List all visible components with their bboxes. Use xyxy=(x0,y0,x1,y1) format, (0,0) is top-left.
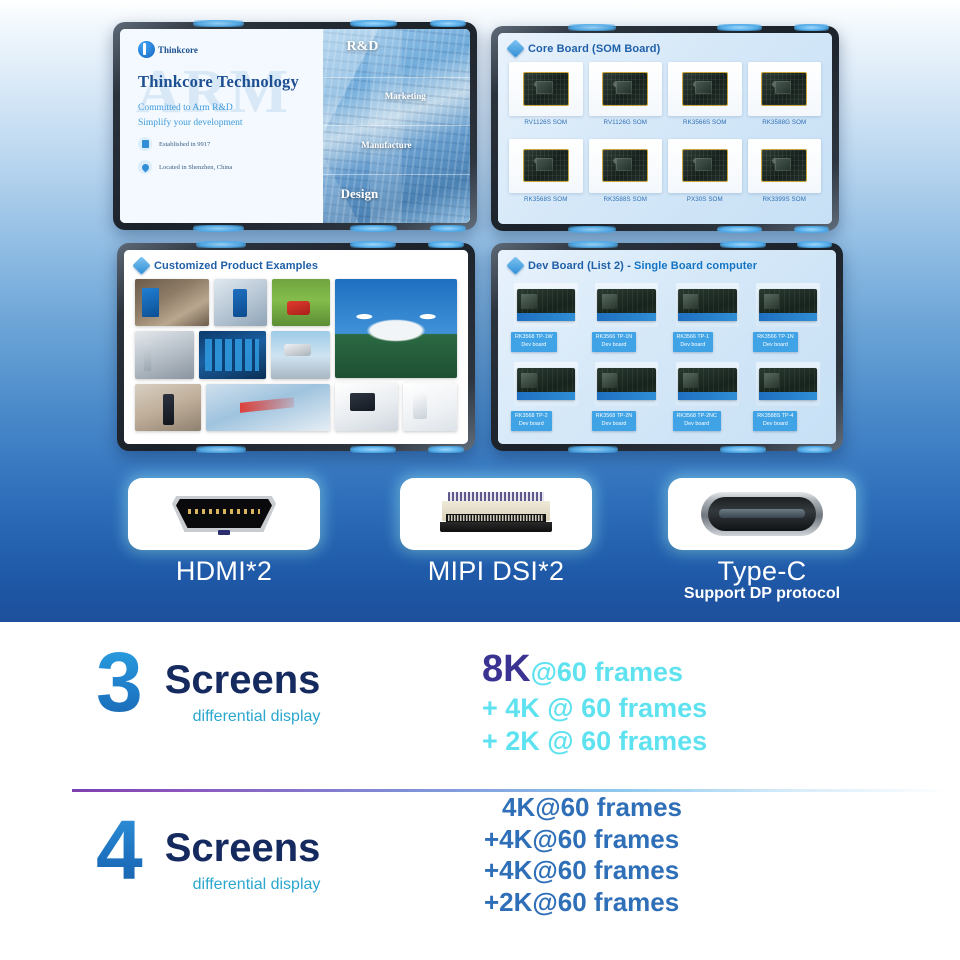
dev-board-label: RK3568 TP-2N Dev board xyxy=(592,411,636,431)
dev-board-model: RK3568 TP-2N xyxy=(596,413,632,421)
som-thumbnail xyxy=(668,139,742,193)
connector-hdmi[interactable]: HDMI*2 xyxy=(94,478,354,587)
thinkcore-logo-text: Thinkcore xyxy=(158,45,198,55)
slide-info-established: Established in 9917 xyxy=(138,137,323,151)
dev-board-kind: Dev board xyxy=(757,342,793,350)
spec-4-left: 4 Screens differential display xyxy=(0,814,470,894)
hdmi-port-icon xyxy=(172,496,276,532)
bezel-clip-icon xyxy=(794,24,829,31)
dev-board-item[interactable]: RK3568 TP-2N Dev board xyxy=(590,358,664,431)
product-photo-pos[interactable] xyxy=(335,383,398,431)
type-c-card xyxy=(668,478,856,550)
dev-board-kind: Dev board xyxy=(677,421,717,429)
spec-3-line-1: 8K@60 frames xyxy=(482,646,960,692)
spec-4-line-2: +4K@60 frames xyxy=(484,824,960,856)
dev-board-label: RK3568 TP-2 Dev board xyxy=(511,411,552,431)
dev-board-model: RK3566 TP-1N xyxy=(596,334,632,342)
som-thumbnail xyxy=(509,62,583,116)
core-board-header: Core Board (SOM Board) xyxy=(509,42,821,55)
product-photo-meeting[interactable] xyxy=(135,384,201,431)
som-item[interactable]: RV1126S SOM xyxy=(509,62,583,135)
monitor-company-slide[interactable]: ARM Thinkcore Thinkcore Technology Commi… xyxy=(113,22,477,230)
product-photo-tablet[interactable] xyxy=(214,279,266,326)
som-label: RV1126G SOM xyxy=(603,119,647,126)
spec-3-line-3: + 2K @ 60 frames xyxy=(482,725,960,758)
dev-board-item[interactable]: RK3566 TP-1N Dev board xyxy=(751,279,825,352)
type-c-sublabel: Support DP protocol xyxy=(632,585,892,603)
product-photo-drone[interactable] xyxy=(335,279,457,378)
hdmi-label: HDMI*2 xyxy=(94,556,354,587)
som-thumbnail xyxy=(509,139,583,193)
som-label: RK3399S SOM xyxy=(763,196,806,203)
spec-4-number: 4 xyxy=(96,814,143,888)
dev-board-item[interactable]: RK3568 TP-1W Dev board xyxy=(509,279,583,352)
product-photo-gate[interactable] xyxy=(135,331,194,378)
bezel-clip-icon xyxy=(350,225,397,232)
diamond-bullet-icon xyxy=(506,256,524,274)
dev-board-kind: Dev board xyxy=(757,421,793,429)
slide-grid-label-design: Design xyxy=(341,186,379,202)
som-item[interactable]: RK3588G SOM xyxy=(748,62,822,135)
dev-board-label: RK3566 TP-1 Dev board xyxy=(673,332,714,352)
som-item[interactable]: RV1126G SOM xyxy=(589,62,663,135)
spec-3-note: differential display xyxy=(165,708,321,726)
screen-dev-board: Dev Board (List 2) - Single Board comput… xyxy=(498,250,836,444)
som-board-grid: RV1126S SOM RV1126G SOM RK3566S SOM xyxy=(509,62,821,211)
spec-row-4-screens: 4 Screens differential display 4K@60 fra… xyxy=(0,814,960,919)
monitor-grid: ARM Thinkcore Thinkcore Technology Commi… xyxy=(0,0,960,470)
som-thumbnail xyxy=(748,139,822,193)
dev-board-model: RK3566 TP-1 xyxy=(677,334,710,342)
dev-board-thumbnail xyxy=(676,283,739,327)
dev-board-model: RK3588S TP-4 xyxy=(757,413,793,421)
dev-board-kind: Dev board xyxy=(515,421,548,429)
monitor-customized-products[interactable]: Customized Product Examples xyxy=(117,243,475,451)
dev-board-item[interactable]: RK3566 TP-1N Dev board xyxy=(590,279,664,352)
bezel-clip-icon xyxy=(350,446,397,453)
connector-row: HDMI*2 MIPI DSI*2 Type-C Support DP prot… xyxy=(0,470,960,622)
dev-board-header: Dev Board (List 2) - Single Board comput… xyxy=(509,259,825,272)
established-text: Established in 9917 xyxy=(159,141,210,148)
spec-4-line-3: +4K@60 frames xyxy=(484,855,960,887)
slide-subtitle-1: Committed to Arm R&D xyxy=(138,103,323,113)
bezel-clip-icon xyxy=(350,241,397,248)
bezel-clip-icon xyxy=(797,446,832,453)
slide-grid-label-marketing: Marketing xyxy=(385,91,426,101)
screen-company-slide: ARM Thinkcore Thinkcore Technology Commi… xyxy=(120,29,470,223)
type-c-label: Type-C xyxy=(632,556,892,587)
dev-board-label: RK3568 TP-1W Dev board xyxy=(511,332,557,352)
som-label: PX30S SOM xyxy=(687,196,723,203)
mipi-dsi-port-icon xyxy=(440,492,552,536)
core-board-title: Core Board (SOM Board) xyxy=(528,43,660,55)
spec-3-line-2: + 4K @ 60 frames xyxy=(482,692,960,725)
spec-3-number: 3 xyxy=(96,646,143,720)
som-thumbnail xyxy=(748,62,822,116)
bezel-clip-icon xyxy=(430,225,466,232)
dev-board-model: RK3566 TP-1N xyxy=(757,334,793,342)
som-item[interactable]: RK3399S SOM xyxy=(748,139,822,212)
customized-products-title: Customized Product Examples xyxy=(154,260,318,272)
slide-subtitle-2: Simplify your development xyxy=(138,118,323,128)
mipi-card xyxy=(400,478,592,550)
building-icon xyxy=(138,137,152,151)
spec-4-right: 4K@60 frames +4K@60 frames +4K@60 frames… xyxy=(470,792,960,919)
screen-core-board: Core Board (SOM Board) RV1126S SOM RV112… xyxy=(498,33,832,224)
screen-customized-products: Customized Product Examples xyxy=(124,250,468,444)
som-thumbnail xyxy=(589,139,663,193)
bezel-clip-icon xyxy=(428,446,464,453)
som-thumbnail xyxy=(668,62,742,116)
spec-4-line-1: 4K@60 frames xyxy=(484,792,960,824)
diamond-bullet-icon xyxy=(132,256,150,274)
dev-board-grid: RK3568 TP-1W Dev board RK3566 TP-1N Dev … xyxy=(509,279,825,431)
dev-board-kind: Dev board xyxy=(596,421,632,429)
monitor-core-board[interactable]: Core Board (SOM Board) RV1126S SOM RV112… xyxy=(491,26,839,231)
dev-board-kind: Dev board xyxy=(515,342,553,350)
location-pin-icon xyxy=(138,160,152,174)
som-label: RK3568S SOM xyxy=(524,196,567,203)
dev-board-title: Dev Board (List 2) - Single Board comput… xyxy=(528,260,757,272)
bezel-clip-icon xyxy=(430,20,466,27)
spec-4-note: differential display xyxy=(165,876,321,894)
bezel-clip-icon xyxy=(428,241,464,248)
bezel-clip-icon xyxy=(720,446,766,453)
spec-3-line-1-rest: @60 frames xyxy=(531,657,683,687)
slide-grid-label-manufacture: Manufacture xyxy=(361,140,411,150)
product-photo-kiosk[interactable] xyxy=(135,279,209,326)
dev-board-title-dash: - xyxy=(624,260,634,272)
som-label: RK3566S SOM xyxy=(683,119,726,126)
product-gallery xyxy=(135,279,457,431)
bezel-clip-icon xyxy=(794,226,829,233)
dev-board-label: RK3588S TP-4 Dev board xyxy=(753,411,797,431)
product-photo-face[interactable] xyxy=(206,384,330,431)
som-item[interactable]: RK3568S SOM xyxy=(509,139,583,212)
spec-3-right: 8K@60 frames + 4K @ 60 frames + 2K @ 60 … xyxy=(470,646,960,758)
dev-board-thumbnail xyxy=(514,283,577,327)
dev-board-thumbnail xyxy=(676,362,739,406)
location-text: Located in Shenzhen, China xyxy=(159,164,232,171)
dev-board-model: RK3568 TP-2NC xyxy=(677,413,717,421)
dev-board-label: RK3566 TP-1N Dev board xyxy=(753,332,797,352)
hdmi-card xyxy=(128,478,320,550)
usb-type-c-port-icon xyxy=(701,492,823,536)
spec-3-word: Screens xyxy=(165,660,321,700)
slide-info-location: Located in Shenzhen, China xyxy=(138,160,323,174)
hero-section: ARM Thinkcore Thinkcore Technology Commi… xyxy=(0,0,960,622)
dev-board-label: RK3568 TP-2NC Dev board xyxy=(673,411,721,431)
specs-section: 3 Screens differential display 8K@60 fra… xyxy=(0,622,960,960)
som-label: RK3588G SOM xyxy=(762,119,806,126)
connector-mipi-dsi[interactable]: MIPI DSI*2 xyxy=(366,478,626,587)
slide-grid-label-rd: R&D xyxy=(347,39,379,55)
som-item[interactable]: RK3588S SOM xyxy=(589,139,663,212)
diamond-bullet-icon xyxy=(506,39,524,57)
product-photo-screens[interactable] xyxy=(199,331,266,378)
mipi-dsi-label: MIPI DSI*2 xyxy=(366,556,626,587)
customized-products-header: Customized Product Examples xyxy=(135,259,457,272)
dev-board-thumbnail xyxy=(514,362,577,406)
dev-board-title-accent: Single Board computer xyxy=(634,260,757,272)
dev-board-title-main: Dev Board (List 2) xyxy=(528,260,624,272)
dev-board-kind: Dev board xyxy=(596,342,632,350)
spec-4-word: Screens xyxy=(165,828,321,868)
slide-building-image: R&D Marketing Manufacture Design xyxy=(323,29,470,223)
connector-type-c[interactable]: Type-C Support DP protocol xyxy=(632,478,892,603)
dev-board-thumbnail xyxy=(595,362,658,406)
dev-board-item[interactable]: RK3568 TP-2NC Dev board xyxy=(671,358,745,431)
bezel-clip-icon xyxy=(720,241,766,248)
product-photo-robot[interactable] xyxy=(403,383,457,431)
som-label: RK3588S SOM xyxy=(604,196,647,203)
bezel-clip-icon xyxy=(717,226,762,233)
bezel-clip-icon xyxy=(350,20,397,27)
som-item[interactable]: RK3566S SOM xyxy=(668,62,742,135)
product-photo-camera[interactable] xyxy=(271,331,330,378)
dev-board-item[interactable]: RK3566 TP-1 Dev board xyxy=(671,279,745,352)
thinkcore-logo: Thinkcore xyxy=(138,41,323,58)
thinkcore-logo-icon xyxy=(138,41,155,58)
bezel-clip-icon xyxy=(797,241,832,248)
dev-board-label: RK3566 TP-1N Dev board xyxy=(592,332,636,352)
dev-board-item[interactable]: RK3588S TP-4 Dev board xyxy=(751,358,825,431)
slide-title: Thinkcore Technology xyxy=(138,72,323,92)
bezel-clip-icon xyxy=(717,24,762,31)
product-photo-mower[interactable] xyxy=(272,279,330,326)
som-item[interactable]: PX30S SOM xyxy=(668,139,742,212)
dev-board-thumbnail xyxy=(756,362,819,406)
spec-row-3-screens: 3 Screens differential display 8K@60 fra… xyxy=(0,646,960,758)
som-thumbnail xyxy=(589,62,663,116)
dev-board-model: RK3568 TP-1W xyxy=(515,334,553,342)
monitor-dev-board[interactable]: Dev Board (List 2) - Single Board comput… xyxy=(491,243,843,451)
dev-board-thumbnail xyxy=(595,283,658,327)
dev-board-thumbnail xyxy=(756,283,819,327)
spec-3-left: 3 Screens differential display xyxy=(0,646,470,726)
som-label: RV1126S SOM xyxy=(524,119,567,126)
dev-board-item[interactable]: RK3568 TP-2 Dev board xyxy=(509,358,583,431)
dev-board-model: RK3568 TP-2 xyxy=(515,413,548,421)
spec-4-line-4: +2K@60 frames xyxy=(484,887,960,919)
spec-3-line-1-strong: 8K xyxy=(482,648,531,690)
dev-board-kind: Dev board xyxy=(677,342,710,350)
